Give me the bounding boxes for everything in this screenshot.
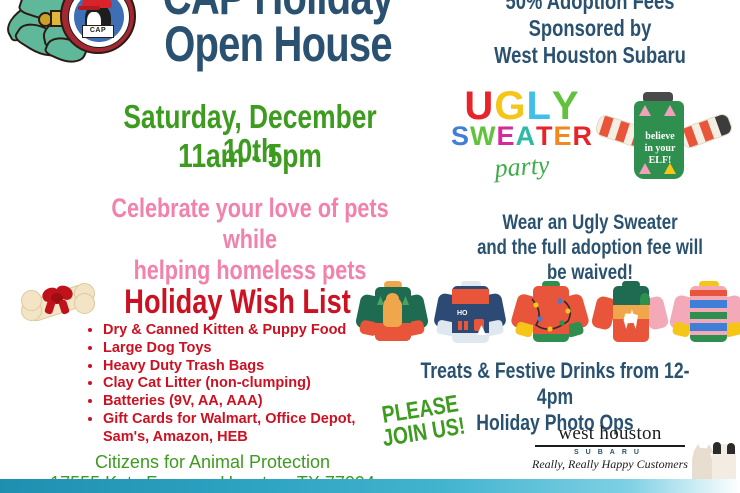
whs-rule (535, 445, 685, 447)
reindeer-sweater-icon (596, 281, 664, 357)
elf-text-line-2: in your (638, 143, 682, 155)
wish-list-item: Batteries (9V, AA, AAA) (103, 393, 403, 411)
usp-letter: W (470, 122, 496, 150)
sponsor-notice: 50% Adoption Fees Sponsored by West Hous… (440, 0, 740, 69)
wish-list-item: Gift Cards for Walmart, Office Depot, Sa… (103, 411, 403, 447)
sponsor-line-3: West Houston Subaru (470, 42, 710, 69)
usp-word-sweater: SWEATER (447, 122, 597, 150)
fair-isle-sweater-icon (674, 281, 740, 357)
tagline-line-1: Celebrate your love of pets while (94, 193, 406, 255)
wear-sweater-notice: Wear an Ugly Sweater and the full adopti… (440, 210, 740, 285)
sponsor-line-1: 50% Adoption Fees (470, 0, 710, 15)
cap-badge-word: CAP (82, 25, 114, 38)
usp-letter: G (494, 86, 526, 126)
usp-letter: A (516, 122, 537, 150)
usp-letter: U (464, 86, 494, 126)
usp-letter: R (573, 122, 594, 150)
gingerbread-sweater-icon (358, 281, 426, 357)
org-name: Citizens for Animal Protection (40, 452, 385, 473)
bone-with-ribbon-icon (22, 280, 96, 326)
sponsor-line-2: Sponsored by (470, 15, 710, 42)
event-tagline: Celebrate your love of pets while helpin… (55, 193, 445, 286)
usp-word-ugly: UGLY (447, 86, 597, 126)
wish-list-item: Heavy Duty Trash Bags (103, 358, 403, 376)
usp-letter: E (496, 122, 515, 150)
event-time: 11am - 5pm (98, 139, 402, 173)
whs-tagline: Really, Really Happy Customers (520, 457, 700, 472)
cap-logo: CITIZENS FOR ANIMAL PROTECTION CAP (2, 0, 132, 74)
string-lights-sweater-icon (516, 281, 584, 357)
bottom-banner-bar (0, 479, 740, 493)
ugly-sweater-party-logo: UGLY SWEATER party (447, 86, 597, 204)
wish-list: Dry & Canned Kitten & Puppy FoodLarge Do… (75, 322, 403, 447)
whs-brand: SUBARU (520, 449, 700, 456)
usp-letter: T (536, 122, 554, 150)
page-title: CAP Holiday Open House (118, 0, 438, 68)
elf-text-line-1: believe (638, 131, 682, 143)
usp-letter: E (554, 122, 573, 150)
ho-ho-sweater-icon: HO (436, 281, 504, 357)
cat-figure (692, 448, 712, 482)
whs-name: west houston (520, 424, 700, 444)
wear-line-2: and the full adoption fee will be waived… (470, 235, 710, 285)
usp-word-party: party (446, 147, 598, 187)
usp-letter: Y (552, 86, 580, 126)
believe-in-your-elf-sweater-icon: believe in your ELF! (596, 88, 736, 200)
usp-letter: S (451, 122, 470, 150)
title-line-2: Open House (150, 21, 406, 68)
ugly-sweater-row: HO (358, 281, 740, 359)
wish-list-item: Clay Cat Litter (non-clumping) (103, 375, 403, 393)
usp-letter: L (526, 86, 551, 126)
flyer-canvas: CITIZENS FOR ANIMAL PROTECTION CAP CAP H… (0, 0, 740, 493)
wear-line-1: Wear an Ugly Sweater (470, 210, 710, 235)
cat-and-dog-photo (690, 440, 740, 482)
wish-list-title: Holiday Wish List (124, 284, 350, 320)
west-houston-subaru-logo: west houston SUBARU Really, Really Happy… (520, 424, 700, 479)
